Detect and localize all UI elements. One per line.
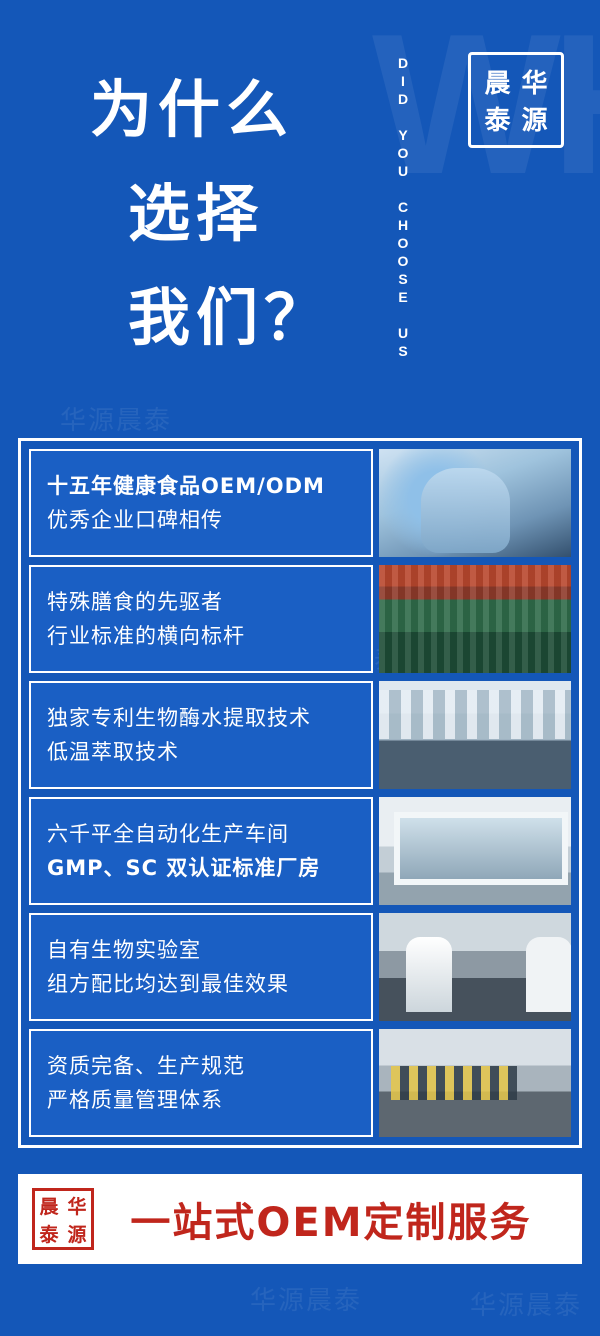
- feature-row: 六千平全自动化生产车间 GMP、SC 双认证标准厂房: [29, 797, 571, 905]
- title-line-1: 为什么: [90, 58, 380, 162]
- feature-line-5b: 组方配比均达到最佳效果: [47, 967, 355, 1001]
- feature-list-panel: 十五年健康食品OEM/ODM 优秀企业口碑相传 特殊膳食的先驱者 行业标准的横向…: [18, 438, 582, 1148]
- brand-logo: 华 晨 源 泰: [468, 52, 564, 148]
- logo-char-2: 晨: [479, 63, 516, 100]
- feature-row: 十五年健康食品OEM/ODM 优秀企业口碑相传: [29, 449, 571, 557]
- feature-line-4b: GMP、SC 双认证标准厂房: [47, 851, 355, 885]
- logo-char-1: 华: [516, 63, 553, 100]
- footer-seal-char-2: 晨: [35, 1192, 63, 1219]
- feature-text-1: 十五年健康食品OEM/ODM 优秀企业口碑相传: [29, 449, 373, 557]
- feature-line-6b: 严格质量管理体系: [47, 1083, 355, 1117]
- watermark-text-4: 华源晨泰: [250, 1280, 362, 1317]
- filling-line-photo: [379, 681, 571, 789]
- brand-logo-chars: 华 晨 源 泰: [479, 63, 553, 137]
- feature-row: 自有生物实验室 组方配比均达到最佳效果: [29, 913, 571, 1021]
- feature-line-3a: 独家专利生物酶水提取技术: [47, 701, 355, 735]
- logo-char-3: 源: [516, 100, 553, 137]
- blister-packaging-photo: [379, 1029, 571, 1137]
- poster-root: WHY 华源晨泰 华源晨泰 华源晨泰 华源晨泰 华源晨泰 为什么 选择 我们？ …: [0, 0, 600, 1336]
- footer-seal-char-4: 泰: [35, 1220, 63, 1247]
- feature-line-4a: 六千平全自动化生产车间: [47, 817, 355, 851]
- feature-line-6a: 资质完备、生产规范: [47, 1049, 355, 1083]
- vertical-subtitle: DID YOU CHOOSE US: [395, 55, 411, 395]
- footer-slogan: 一站式OEM定制服务: [94, 1190, 568, 1248]
- feature-text-3: 独家专利生物酶水提取技术 低温萃取技术: [29, 681, 373, 789]
- footer-seal-logo: 华 晨 源 泰: [32, 1188, 94, 1250]
- conference-audience-photo: [379, 565, 571, 673]
- feature-line-3b: 低温萃取技术: [47, 735, 355, 769]
- poster-footer: 华 晨 源 泰 一站式OEM定制服务: [18, 1174, 582, 1264]
- feature-text-5: 自有生物实验室 组方配比均达到最佳效果: [29, 913, 373, 1021]
- feature-text-6: 资质完备、生产规范 严格质量管理体系: [29, 1029, 373, 1137]
- title-line-3: 我们？: [90, 266, 380, 370]
- watermark-text-5: 华源晨泰: [470, 1285, 582, 1322]
- feature-line-2a: 特殊膳食的先驱者: [47, 585, 355, 619]
- laboratory-staff-photo: [379, 913, 571, 1021]
- feature-line-1a: 十五年健康食品OEM/ODM: [47, 469, 355, 503]
- page-title: 为什么 选择 我们？: [90, 58, 380, 370]
- footer-seal-char-1: 华: [63, 1192, 91, 1219]
- footer-seal-char-3: 源: [63, 1220, 91, 1247]
- feature-text-4: 六千平全自动化生产车间 GMP、SC 双认证标准厂房: [29, 797, 373, 905]
- title-line-2: 选择: [90, 162, 380, 266]
- cleanroom-workshop-photo: [379, 797, 571, 905]
- feature-row: 资质完备、生产规范 严格质量管理体系: [29, 1029, 571, 1137]
- lab-technician-photo: [379, 449, 571, 557]
- feature-text-2: 特殊膳食的先驱者 行业标准的横向标杆: [29, 565, 373, 673]
- logo-char-4: 泰: [479, 100, 516, 137]
- feature-row: 独家专利生物酶水提取技术 低温萃取技术: [29, 681, 571, 789]
- feature-line-2b: 行业标准的横向标杆: [47, 619, 355, 653]
- feature-line-1b: 优秀企业口碑相传: [47, 503, 355, 537]
- feature-line-5a: 自有生物实验室: [47, 933, 355, 967]
- poster-header: 为什么 选择 我们？ DID YOU CHOOSE US 华 晨 源 泰: [0, 0, 600, 430]
- feature-row: 特殊膳食的先驱者 行业标准的横向标杆: [29, 565, 571, 673]
